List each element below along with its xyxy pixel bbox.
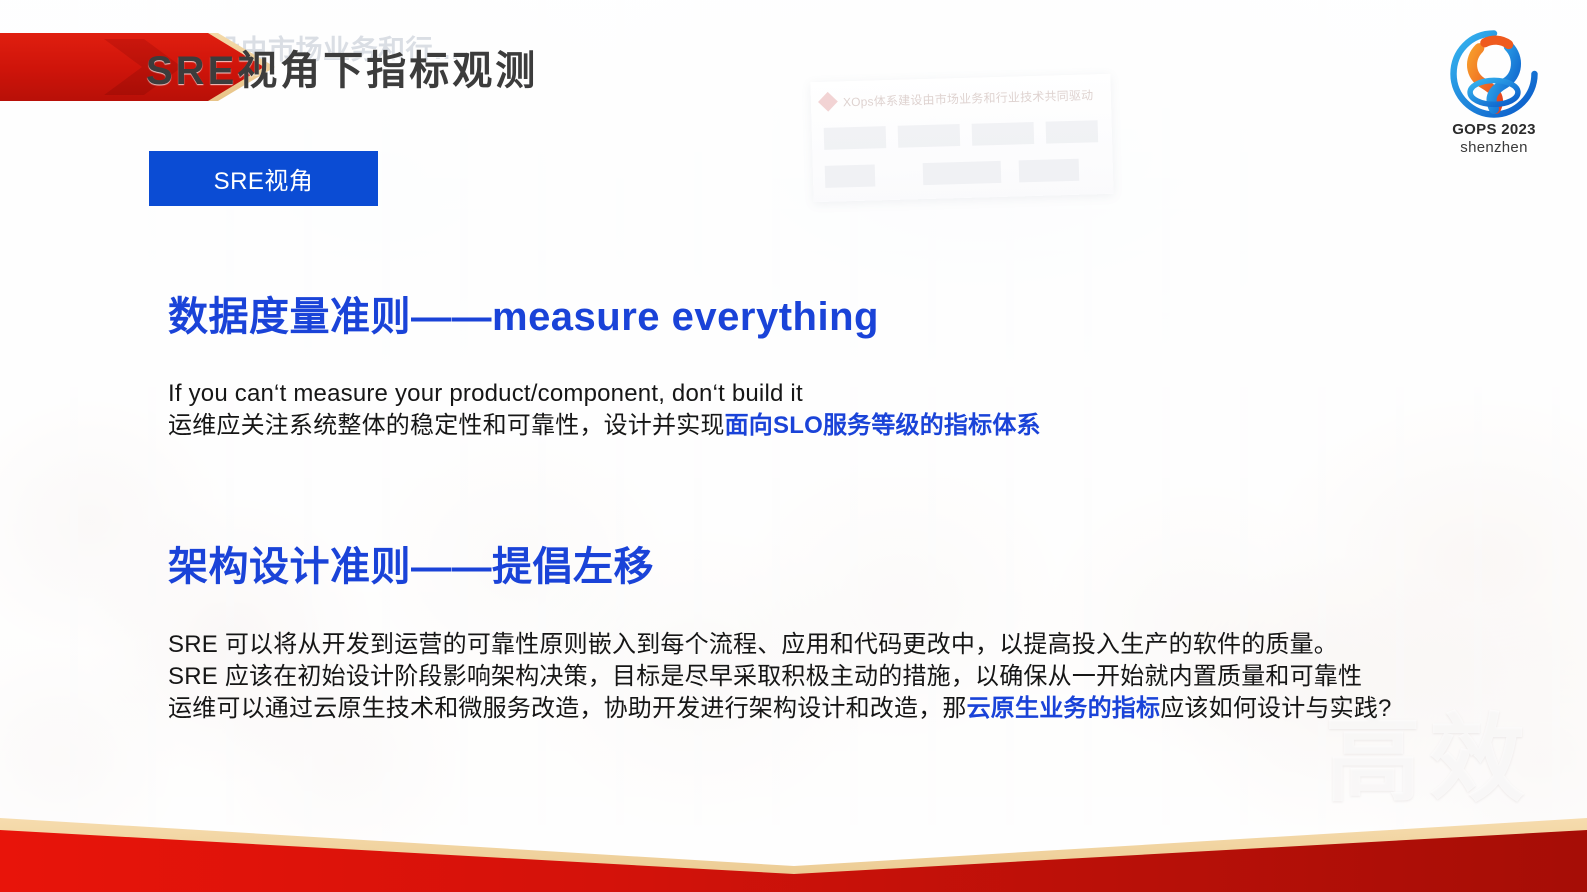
section-heading-2: 架构设计准则——提倡左移 [168, 534, 654, 592]
ghost-slide-bullet-icon [818, 92, 838, 112]
section-paragraph-1: If you can‘t measure your product/compon… [168, 378, 1041, 442]
page-title: SRE视角下指标观测 [146, 38, 538, 96]
gops-logo: GOPS 2023 shenzhen [1431, 28, 1557, 156]
logo-text-primary: GOPS 2023 [1431, 121, 1557, 138]
logo-text-secondary: shenzhen [1431, 139, 1557, 156]
presentation-slide: XOps体系建设由市场业务和行业技术共同驱动 XOps体系建设由市场业务和行… … [0, 0, 1587, 892]
paragraph-line: SRE 应该在初始设计阶段影响架构决策，目标是尽早采取积极主动的措施，以确保从一… [168, 661, 1392, 693]
paragraph-line: SRE 可以将从开发到运营的可靠性原则嵌入到每个流程、应用和代码更改中，以提高投… [168, 629, 1392, 661]
emphasis-text: 面向SLO服务等级的指标体系 [725, 412, 1041, 439]
emphasis-text: 云原生业务的指标 [967, 695, 1161, 722]
body-text: 运维可以通过云原生技术和微服务改造，协助开发进行架构设计和改造，那 [168, 695, 967, 722]
section-tag-sre-perspective: SRE视角 [149, 151, 378, 206]
body-text: SRE 可以将从开发到运营的可靠性原则嵌入到每个流程、应用和代码更改中，以提高投… [168, 631, 1338, 658]
body-text: 运维应关注系统整体的稳定性和可靠性，设计并实现 [168, 412, 725, 439]
paragraph-line: If you can‘t measure your product/compon… [168, 378, 1041, 410]
ghost-slide-title: XOps体系建设由市场业务和行业技术共同驱动 [843, 86, 1094, 110]
section-paragraph-2: SRE 可以将从开发到运营的可靠性原则嵌入到每个流程、应用和代码更改中，以提高投… [168, 629, 1392, 725]
background-ghost-slide: XOps体系建设由市场业务和行业技术共同驱动 [810, 74, 1113, 202]
body-text: If you can‘t measure your product/compon… [168, 380, 803, 407]
paragraph-line: 运维应关注系统整体的稳定性和可靠性，设计并实现面向SLO服务等级的指标体系 [168, 410, 1041, 442]
section-tag-label: SRE视角 [214, 161, 314, 196]
body-text: SRE 应该在初始设计阶段影响架构决策，目标是尽早采取积极主动的措施，以确保从一… [168, 663, 1362, 690]
paragraph-line: 运维可以通过云原生技术和微服务改造，协助开发进行架构设计和改造，那云原生业务的指… [168, 693, 1392, 725]
body-text: 应该如何设计与实践? [1160, 695, 1391, 722]
gops-swirl-icon [1448, 28, 1540, 120]
section-heading-1: 数据度量准则——measure everything [168, 284, 879, 342]
watermark-text: 高效 [1325, 712, 1533, 808]
